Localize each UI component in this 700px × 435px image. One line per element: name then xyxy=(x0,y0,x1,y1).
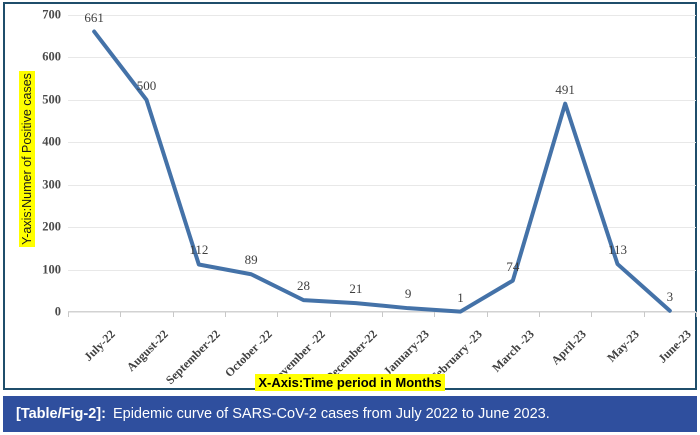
y-axis-tick-label: 500 xyxy=(42,92,61,107)
data-label: 491 xyxy=(555,82,575,98)
x-axis-tick-mark xyxy=(173,312,174,317)
x-axis-tick-mark xyxy=(644,312,645,317)
plot-area: 66150011289282191744911133 July-22August… xyxy=(68,15,696,312)
x-axis-tick-mark xyxy=(225,312,226,317)
y-axis-tick-label: 400 xyxy=(42,135,61,150)
data-label: 28 xyxy=(297,278,310,294)
x-axis-tick-mark xyxy=(68,312,69,317)
y-axis-tick-label: 200 xyxy=(42,220,61,235)
data-label: 661 xyxy=(84,10,104,26)
x-axis-tick-mark xyxy=(487,312,488,317)
x-axis-tick-mark xyxy=(434,312,435,317)
x-axis-tick-label: May-23 xyxy=(604,327,642,365)
data-label: 1 xyxy=(457,290,464,306)
figure-container: Y-axis:Numer of Positive cases 010020030… xyxy=(0,0,700,435)
x-axis-tick-label: August-22 xyxy=(123,327,171,375)
x-axis-tick-label: April-23 xyxy=(549,327,590,368)
figure-caption-text: Epidemic curve of SARS-CoV-2 cases from … xyxy=(113,406,550,422)
x-axis-title-label: X-Axis:Time period in Months xyxy=(255,374,444,391)
y-axis-tick-label: 600 xyxy=(42,50,61,65)
x-axis-title: X-Axis:Time period in Months xyxy=(5,375,695,390)
y-axis-tick-label: 700 xyxy=(42,8,61,23)
data-label: 9 xyxy=(405,286,412,302)
x-axis-tick-mark xyxy=(330,312,331,317)
x-axis-tick-label: July-22 xyxy=(81,327,118,364)
y-axis-tick-label: 100 xyxy=(42,262,61,277)
x-axis-tick-mark xyxy=(696,312,697,317)
data-label: 500 xyxy=(137,78,157,94)
y-axis-tick-labels: 0100200300400500600700 xyxy=(31,15,61,312)
data-label: 113 xyxy=(608,242,627,258)
data-label: 3 xyxy=(667,289,674,305)
data-label: 74 xyxy=(506,259,519,275)
series-line-chart xyxy=(68,15,696,312)
x-axis-tick-mark xyxy=(539,312,540,317)
y-axis-title-wrap: Y-axis:Numer of Positive cases xyxy=(5,4,31,324)
x-axis-tick-label: January-23 xyxy=(381,327,433,379)
chart-frame: Y-axis:Numer of Positive cases 010020030… xyxy=(3,2,697,390)
x-axis-tick-mark xyxy=(120,312,121,317)
figure-caption-tag: [Table/Fig-2]: xyxy=(16,406,106,422)
data-label: 112 xyxy=(189,242,208,258)
chart-plot-region: Y-axis:Numer of Positive cases 010020030… xyxy=(5,4,695,388)
x-axis-tick-label: October -22 xyxy=(222,327,276,381)
x-axis-tick-label: June-23 xyxy=(655,327,694,366)
y-axis-tick-label: 300 xyxy=(42,177,61,192)
data-label: 21 xyxy=(349,281,362,297)
y-axis-tick-label: 0 xyxy=(55,305,61,320)
x-axis-tick-mark xyxy=(382,312,383,317)
x-axis-tick-mark xyxy=(277,312,278,317)
x-axis-tick-mark xyxy=(591,312,592,317)
figure-caption-bar: [Table/Fig-2]: Epidemic curve of SARS-Co… xyxy=(3,396,697,432)
x-axis-tick-label: March -23 xyxy=(489,327,537,375)
data-label: 89 xyxy=(245,252,258,268)
